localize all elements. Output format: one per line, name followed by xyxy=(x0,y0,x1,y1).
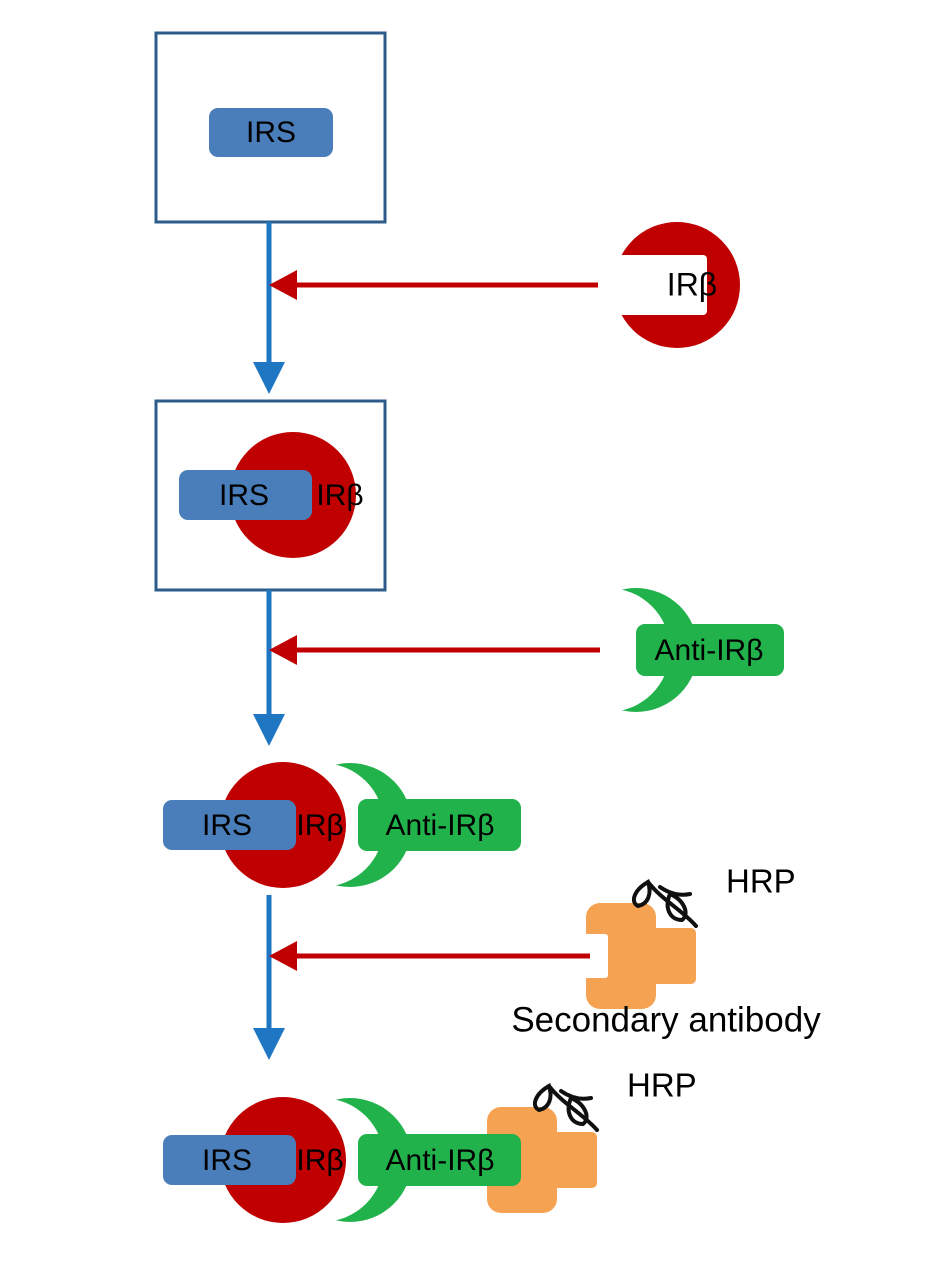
elisa-workflow-diagram: IRS IRβ IRS IRβ xyxy=(0,0,934,1272)
secondary-antibody-label: Secondary antibody xyxy=(511,1000,821,1039)
background xyxy=(0,0,934,1272)
anti-irbeta-label-3: Anti-IRβ xyxy=(386,809,495,842)
irbeta-label-4: IRβ xyxy=(296,1144,343,1177)
hrp-label: HRP xyxy=(726,863,796,900)
irs-label-4: IRS xyxy=(202,1144,252,1177)
irbeta-reagent: IRβ xyxy=(614,222,740,348)
hrp-label-4: HRP xyxy=(627,1067,697,1104)
irbeta-label-3: IRβ xyxy=(296,809,343,842)
step-1-irs-plate: IRS xyxy=(156,33,385,222)
step-2-irs-irbeta-plate: IRS IRβ xyxy=(156,401,385,590)
diagram-canvas: IRS IRβ IRS IRβ xyxy=(0,0,934,1272)
irs-shape-4: IRS xyxy=(163,1135,296,1185)
irs-shape-1: IRS xyxy=(209,108,333,157)
irs-shape-3: IRS xyxy=(163,800,296,850)
irbeta-label-2: IRβ xyxy=(316,479,363,512)
secondary-antibody-block xyxy=(586,903,656,1009)
irbeta-reagent-label: IRβ xyxy=(667,266,717,302)
irs-label: IRS xyxy=(246,116,296,149)
irs-label-2: IRS xyxy=(219,479,269,512)
secondary-antibody-body xyxy=(586,903,656,1009)
irs-label-3: IRS xyxy=(202,809,252,842)
irs-shape-2: IRS xyxy=(179,470,312,520)
anti-irbeta-reagent-label: Anti-IRβ xyxy=(655,634,764,667)
anti-irbeta-label-4: Anti-IRβ xyxy=(386,1144,495,1177)
